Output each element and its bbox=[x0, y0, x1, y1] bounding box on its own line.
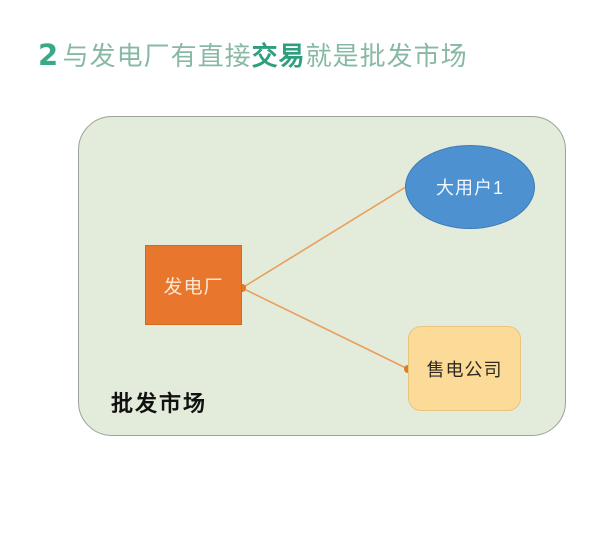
node-retail-company-label: 售电公司 bbox=[427, 356, 503, 382]
title-segment-1: 与发电厂有直接 bbox=[63, 41, 252, 71]
node-big-customer[interactable]: 大用户1 bbox=[405, 145, 535, 229]
title-segment-3: 就是批发市场 bbox=[306, 41, 468, 71]
connector-plant-to-big-customer bbox=[238, 181, 413, 292]
node-retail-company[interactable]: 售电公司 bbox=[408, 326, 521, 411]
node-power-plant[interactable]: 发电厂 bbox=[145, 245, 242, 325]
node-power-plant-label: 发电厂 bbox=[163, 272, 223, 299]
title-segment-2-emphasis: 交易 bbox=[252, 41, 306, 71]
wholesale-market-caption: 批发市场 bbox=[111, 386, 207, 418]
wholesale-market-container: 发电厂 大用户1 售电公司 批发市场 bbox=[78, 116, 566, 436]
page-title: 2 与发电厂有直接交易就是批发市场 bbox=[38, 41, 468, 70]
connector-plant-to-retailer bbox=[238, 284, 412, 373]
title-number: 2 bbox=[38, 38, 58, 72]
node-big-customer-label: 大用户1 bbox=[436, 174, 504, 200]
